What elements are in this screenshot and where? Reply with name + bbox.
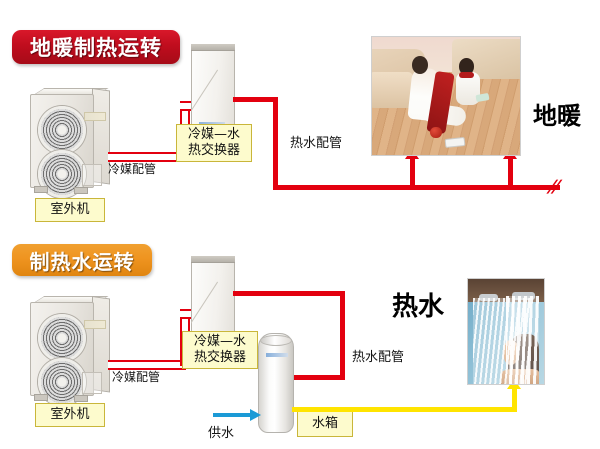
water-tank-label-text: 水箱 [312,416,338,432]
arrow-right-icon-water-supply [250,409,261,421]
hot-water-pipe-down-1 [273,97,278,190]
outdoor-unit-icon-2 [30,296,125,406]
heat-exchanger-label-line2-1: 热交换器 [188,143,240,159]
hot-water-pipe-down-2 [340,291,345,380]
result-label-floor-heating: 地暖 [533,96,581,131]
result-label-hot-water: 热水 [392,286,444,323]
outdoor-unit-label-1: 室外机 [35,198,105,222]
hot-water-pipe-top-2 [233,291,345,296]
heat-exchanger-label-line2-2: 热交换器 [194,350,246,366]
banner-floor-heating: 地暖制热运转 [12,30,180,64]
banner-hot-water: 制热水运转 [12,244,152,276]
tank-output-pipe-riser [512,388,517,412]
water-supply-pipe [213,413,251,417]
water-tank-label: 水箱 [297,411,353,437]
diagram-canvas: 地暖制热运转 室外机 冷媒配管 冷媒—水 热交换器 [0,0,600,449]
hot-water-pipe-label-1: 热水配管 [290,132,342,151]
outdoor-unit-label-text-2: 室外机 [50,407,89,423]
outdoor-unit-label-2: 室外机 [35,403,105,427]
hot-water-riser-left-1 [410,157,415,187]
hot-water-pipe-return-2 [292,375,345,380]
heat-exchanger-label-1: 冷媒—水 热交换器 [176,124,252,162]
outdoor-unit-label-text-1: 室外机 [50,202,89,218]
water-supply-label: 供水 [208,422,234,441]
tank-output-pipe-horizontal [292,407,517,412]
hot-water-photo [467,278,545,385]
outdoor-unit-icon-1 [30,88,125,198]
hydrobox-icon-1 [191,44,235,132]
heat-exchanger-label-line1-2: 冷媒—水 [194,334,246,350]
hot-water-pipe-bottom-1 [273,185,560,190]
hot-water-riser-right-1 [508,157,513,187]
floor-heating-photo [371,36,521,156]
refrigerant-pipe-label-1: 冷媒配管 [108,160,156,177]
heat-exchanger-label-2: 冷媒—水 热交换器 [182,331,258,369]
hot-water-pipe-label-2: 热水配管 [352,346,404,365]
hot-water-pipe-top-1 [233,97,278,102]
water-tank-icon [258,333,294,433]
heat-exchanger-label-line1-1: 冷媒—水 [188,127,240,143]
refrigerant-pipe-label-2: 冷媒配管 [112,368,160,385]
